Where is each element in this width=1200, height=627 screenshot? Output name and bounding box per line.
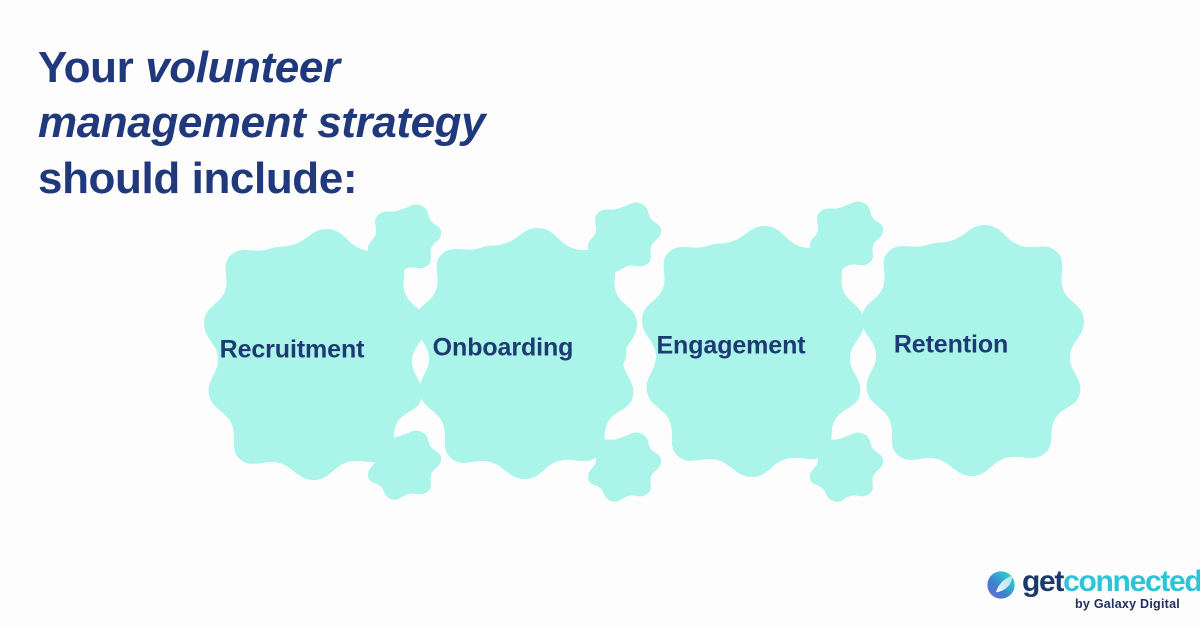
galaxy-digital-sphere-icon (986, 570, 1016, 600)
stage-connector-sliver (618, 338, 627, 364)
stage-label-recruitment: Recruitment (220, 338, 365, 363)
page-title-line-2: management strategy (38, 95, 598, 150)
page-title-line-1-italic: volunteer (145, 43, 339, 92)
stage-label-retention: Retention (894, 333, 1008, 358)
stage-label-engagement: Engagement (656, 334, 805, 359)
stage-connector-sliver (840, 336, 849, 362)
logo-tagline: by Galaxy Digital (1075, 597, 1180, 611)
stage-connector-sliver (398, 340, 407, 366)
logo-word-connected: connected (1063, 565, 1200, 598)
page-title: Your volunteer management strategy shoul… (38, 40, 598, 206)
logo-word-get: get (1022, 565, 1063, 598)
infographic-canvas: Your volunteer management strategy shoul… (0, 0, 1200, 627)
stage-label-onboarding: Onboarding (433, 336, 574, 361)
page-title-line-1-plain: Your (38, 43, 145, 92)
page-title-line-1: Your volunteer (38, 40, 598, 95)
brand-logo[interactable]: getconnected by Galaxy Digital (986, 566, 1182, 614)
logo-wordmark: getconnected (1022, 566, 1200, 598)
